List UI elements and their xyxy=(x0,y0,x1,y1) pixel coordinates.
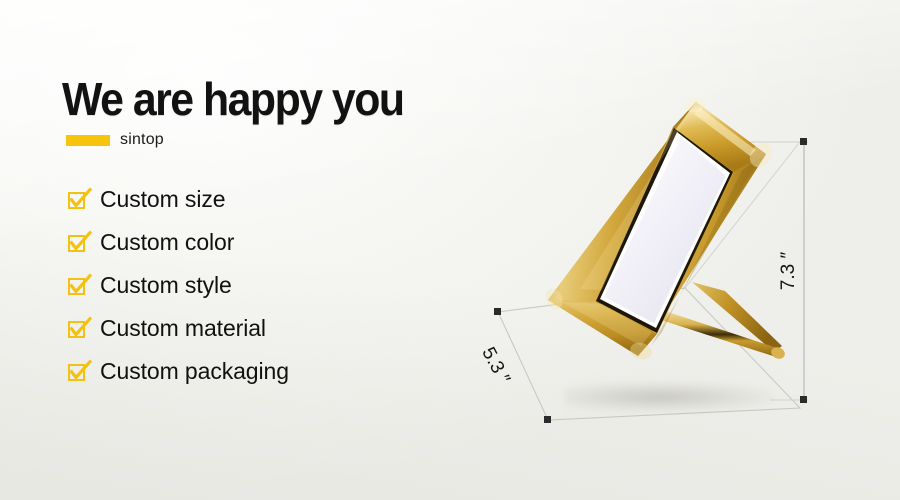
page-title: We are happy you xyxy=(62,76,462,122)
list-item-label: Custom packaging xyxy=(100,360,289,383)
list-item-label: Custom color xyxy=(100,231,234,254)
checkmark-icon xyxy=(68,233,87,252)
dimension-width-label: 5.3 ″ xyxy=(476,344,513,388)
brand-name: sintop xyxy=(120,131,164,149)
frame-illustration xyxy=(510,94,840,424)
list-item: Custom style xyxy=(66,264,289,307)
list-item-label: Custom size xyxy=(100,188,225,211)
left-copy-block: We are happy you sintop xyxy=(62,76,492,149)
feature-checklist: Custom size Custom color Custom style xyxy=(66,178,289,393)
checkmark-icon xyxy=(68,319,87,338)
list-item: Custom packaging xyxy=(66,350,289,393)
brand-row: sintop xyxy=(66,131,492,149)
promo-banner: We are happy you sintop Custom size xyxy=(0,0,900,500)
list-item-label: Custom style xyxy=(100,274,232,297)
dimension-tick-left xyxy=(494,308,501,315)
checkmark-icon xyxy=(68,276,87,295)
brand-accent-bar xyxy=(66,135,110,146)
product-photo: 7.3 ″ 5.3 ″ xyxy=(470,90,900,490)
checkmark-icon xyxy=(68,190,87,209)
list-item: Custom size xyxy=(66,178,289,221)
list-item-label: Custom material xyxy=(100,317,266,340)
list-item: Custom material xyxy=(66,307,289,350)
checkmark-icon xyxy=(68,362,87,381)
list-item: Custom color xyxy=(66,221,289,264)
